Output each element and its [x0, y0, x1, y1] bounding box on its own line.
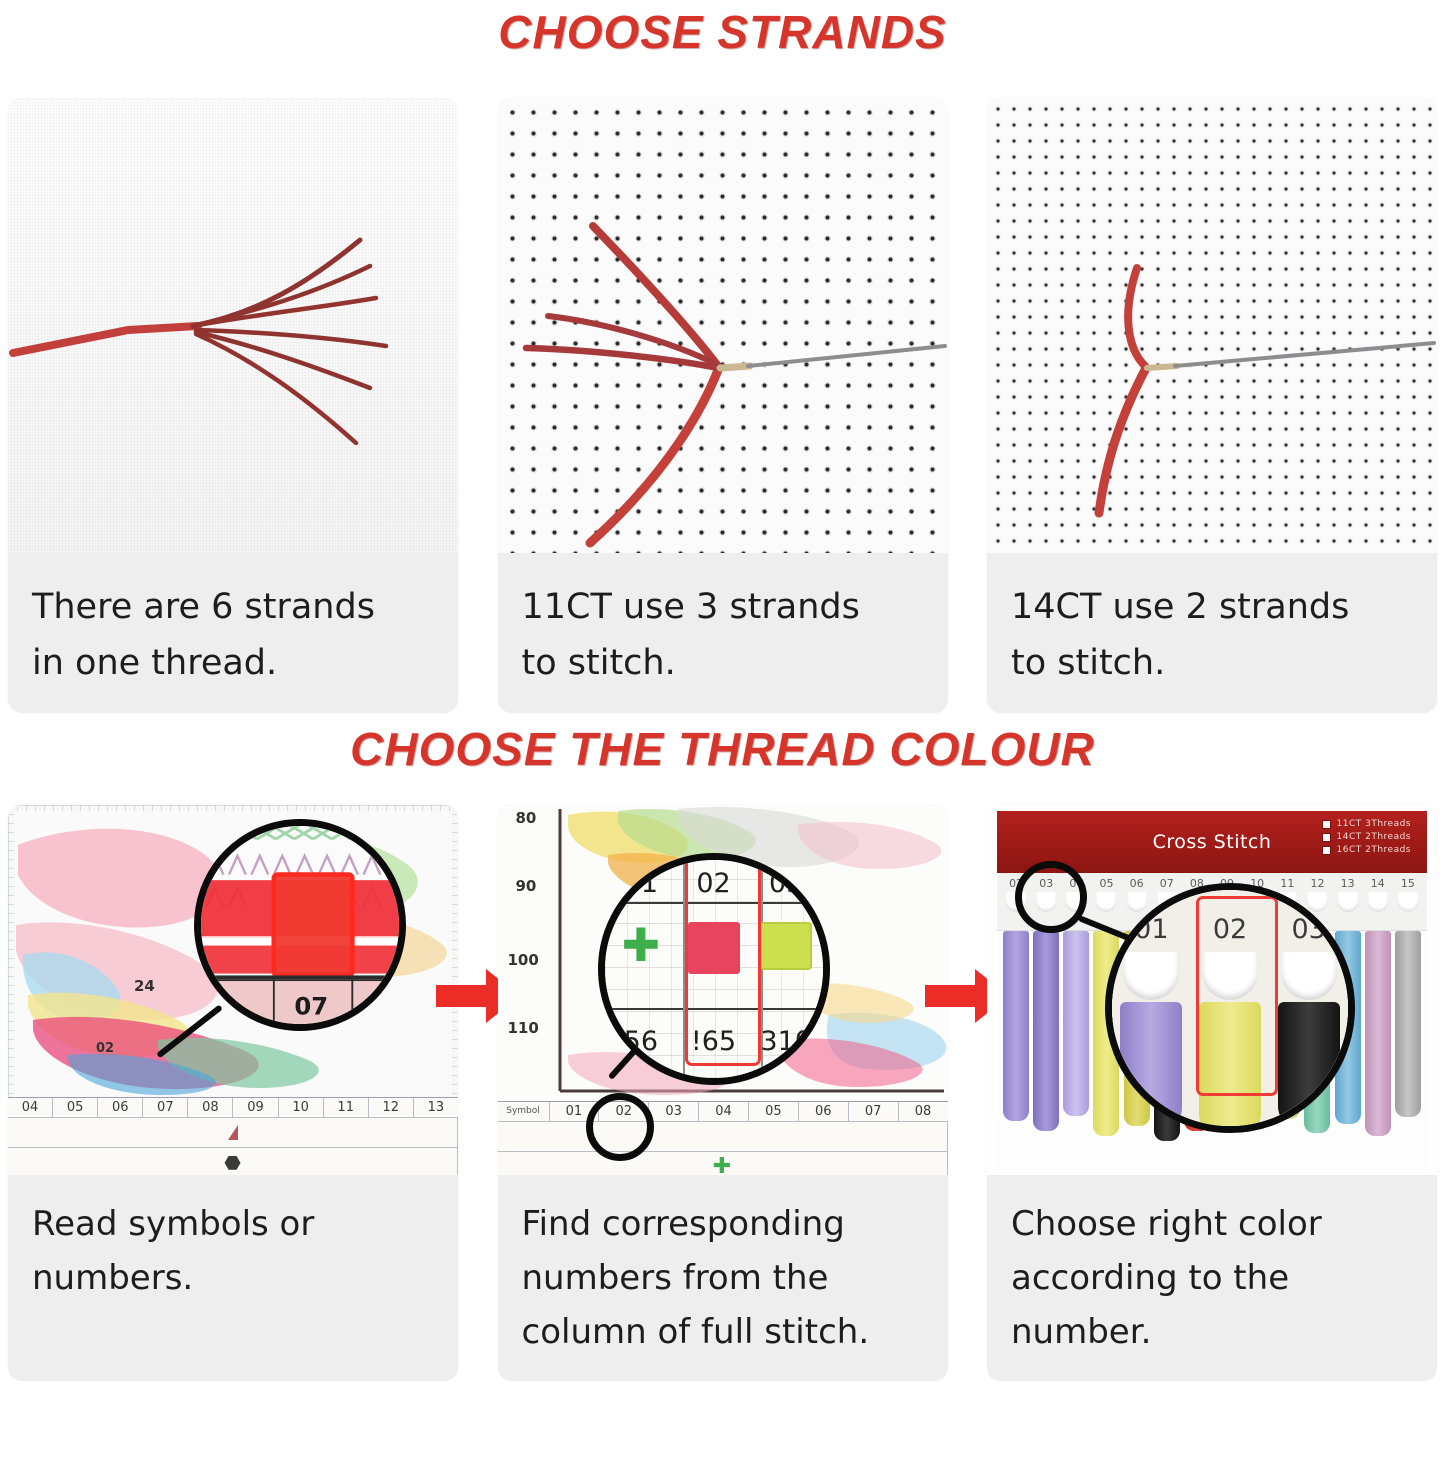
hole-number: 12: [1310, 877, 1324, 890]
caption-line-1: 14CT use 2 strands: [1011, 579, 1413, 635]
axis-tick-90: 90: [516, 877, 537, 895]
magnifier-circle-numbers: 01 02 03 ✚: [598, 853, 830, 1085]
cross-icon: ✚: [713, 1156, 731, 1176]
thread-hole-column: 14: [1363, 873, 1393, 930]
thread-card-title: Cross Stitch: [1153, 831, 1272, 853]
floss-slot: [1001, 931, 1031, 1161]
legend-row-spacer: [498, 1122, 948, 1152]
legend-table-left: 04 05 06 07 08 09 10 11 12 13 ⬣: [8, 1097, 458, 1175]
photo-six-strands: [8, 98, 458, 553]
legend-header-cell: 12: [369, 1098, 414, 1118]
photo-11ct: [498, 98, 948, 553]
checkbox-icon[interactable]: [1322, 820, 1331, 829]
axis-tick-100: 100: [508, 951, 539, 969]
checkbox-icon[interactable]: [1322, 833, 1331, 842]
legend-header-cell: 04: [699, 1102, 749, 1122]
chart-cell-number: 02: [96, 1041, 114, 1056]
magnifier-circle-thread-numbers: 01 02 03: [1105, 883, 1355, 1133]
hole-number: 07: [1160, 877, 1174, 890]
floss-skein: [1278, 1002, 1340, 1130]
card-14ct: 14CT use 2 strands to stitch.: [987, 98, 1437, 713]
magnifier-circle-symbols: 07: [194, 819, 406, 1031]
thread-hole-column: 15: [1393, 873, 1423, 930]
legend-header-cell: 05: [749, 1102, 799, 1122]
floss-slot: [1031, 931, 1061, 1161]
legend-header-cell: 13: [414, 1098, 458, 1118]
magnifier-number: 01: [1112, 914, 1191, 945]
floss-skein: [1365, 931, 1391, 1136]
hole-icon: [1367, 892, 1389, 912]
magnifier-content-thread: 01 02 03: [1112, 890, 1348, 1126]
hole-number: 13: [1341, 877, 1355, 890]
magnifier-code-cell: 56: [605, 1026, 678, 1057]
caption-line-1: Read symbols or: [32, 1197, 434, 1251]
magnifier-content-symbols: 07: [201, 826, 399, 1024]
magnifier-symbol-cell: ✚: [605, 922, 678, 978]
card-read-symbols: 24: [8, 805, 458, 1381]
checkbox-icon[interactable]: [1322, 846, 1331, 855]
legend-header-row: Symbol 01 02 03 04 05 06 07 08: [498, 1102, 948, 1122]
thread-card-options: 11CT 3Threads 14CT 2Threads 16CT 2Thread…: [1322, 819, 1411, 855]
magnifier-highlight-column: [685, 856, 761, 1066]
page-title-choose-strands: CHOOSE STRANDS: [0, 0, 1445, 60]
caption-line-2: to stitch.: [1011, 635, 1413, 691]
legend-header-cell: 05: [53, 1098, 98, 1118]
legend-header-cell: 06: [799, 1102, 849, 1122]
hole-icon: [1397, 892, 1419, 912]
magnifier-header-cell: 01: [605, 868, 678, 899]
floss-slot: [1393, 931, 1423, 1161]
floss-slot: [1363, 931, 1393, 1161]
magnifier-header-cell: 03: [750, 868, 823, 899]
axis-tick-80: 80: [516, 809, 537, 827]
thread-card-option: 16CT 2Threads: [1322, 845, 1411, 855]
legend-symbol-row: ⬣ × ⥚ ✦ Λ: [8, 1118, 458, 1175]
hole-number: 15: [1401, 877, 1415, 890]
magnifier-code-cell: 310: [750, 1026, 823, 1057]
legend-symbol-row: ✚ ⬣: [498, 1122, 948, 1175]
caption-line-2: in one thread.: [32, 635, 434, 691]
legend-header-cell: 07: [849, 1102, 899, 1122]
legend-symbol-cell: [8, 1118, 458, 1148]
legend-header-cell: 07: [143, 1098, 188, 1118]
svg-text:24: 24: [134, 977, 155, 995]
legend-row-label: Symbol: [498, 1102, 550, 1122]
option-label: 14CT 2Threads: [1337, 832, 1411, 842]
legend-header-cell: 03: [649, 1102, 699, 1122]
option-label: 11CT 3Threads: [1337, 819, 1411, 829]
photo-chart-with-axis: 80 90 100 110 01 02 03: [498, 805, 948, 1175]
legend-highlight-circle: [586, 1093, 654, 1161]
cross-icon: ✚: [622, 922, 661, 968]
legend-header-row: 04 05 06 07 08 09 10 11 12 13: [8, 1098, 458, 1118]
caption-line-1: 11CT use 3 strands: [522, 579, 924, 635]
legend-header-cell: 08: [188, 1098, 233, 1118]
square-icon: [760, 922, 812, 970]
card-11ct: 11CT use 3 strands to stitch.: [498, 98, 948, 713]
legend-symbol-cell: ✚: [498, 1152, 948, 1175]
photo-pattern-chart: 24: [8, 805, 458, 1175]
thread-hole-highlight-circle: [1015, 861, 1087, 933]
option-label: 16CT 2Threads: [1337, 845, 1411, 855]
caption-line-3: number.: [1011, 1305, 1413, 1359]
page-title-choose-thread-colour: CHOOSE THE THREAD COLOUR: [0, 713, 1445, 777]
hole-number: 14: [1371, 877, 1385, 890]
card-choose-color: Cross Stitch 11CT 3Threads 14CT 2Threads: [987, 805, 1437, 1381]
hole-number: 11: [1280, 877, 1294, 890]
caption-14ct: 14CT use 2 strands to stitch.: [987, 553, 1437, 713]
legend-header-cell: 04: [8, 1098, 53, 1118]
legend-symbol-cell: ⬣: [8, 1148, 458, 1175]
caption-choose-color: Choose right color according to the numb…: [987, 1175, 1437, 1381]
colour-card-row: 24: [0, 805, 1445, 1381]
caption-line-2: numbers.: [32, 1251, 434, 1305]
card-six-strands: There are 6 strands in one thread.: [8, 98, 458, 713]
caption-find-numbers: Find corresponding numbers from the colu…: [498, 1175, 948, 1381]
card-find-numbers: 80 90 100 110 01 02 03: [498, 805, 948, 1381]
photo-14ct: [987, 98, 1437, 553]
thread-card-option: 11CT 3Threads: [1322, 819, 1411, 829]
floss-skein: [1003, 931, 1029, 1121]
hole-icon: [1281, 952, 1337, 1000]
thread-card-option: 14CT 2Threads: [1322, 832, 1411, 842]
caption-line-1: Find corresponding: [522, 1197, 924, 1251]
thread-six-strands-illustration: [8, 98, 458, 553]
legend-header-cell: 09: [233, 1098, 278, 1118]
caption-read-symbols: Read symbols or numbers.: [8, 1175, 458, 1381]
axis-tick-110: 110: [508, 1019, 539, 1037]
floss-skein: [1033, 931, 1059, 1131]
hexagon-icon: ⬣: [224, 1153, 241, 1173]
magnifier-highlight-number: [1196, 896, 1278, 1096]
magnifier-symbol-cell: [750, 922, 823, 978]
caption-line-3: column of full stitch.: [522, 1305, 924, 1359]
legend-header-cell: 10: [279, 1098, 324, 1118]
magnifier-number: 03: [1269, 914, 1348, 945]
magnifier-content-numbers: 01 02 03 ✚: [605, 860, 823, 1078]
hole-icon: [1123, 952, 1179, 1000]
legend-header-cell: 11: [324, 1098, 369, 1118]
triangle-icon: [228, 1125, 238, 1140]
caption-line-2: numbers from the: [522, 1251, 924, 1305]
floss-skein: [1120, 1002, 1182, 1132]
thread-needle-14ct-illustration: [987, 98, 1437, 553]
floss-skein: [1395, 931, 1421, 1117]
svg-text:07: 07: [294, 992, 328, 1021]
legend-header-cell: 06: [98, 1098, 143, 1118]
caption-line-2: according to the: [1011, 1251, 1413, 1305]
caption-line-2: to stitch.: [522, 635, 924, 691]
legend-table-middle: Symbol 01 02 03 04 05 06 07 08 ✚: [498, 1101, 948, 1175]
hole-number: 06: [1130, 877, 1144, 890]
caption-line-1: Choose right color: [1011, 1197, 1413, 1251]
caption-line-1: There are 6 strands: [32, 579, 434, 635]
floss-slot: [1061, 931, 1091, 1161]
caption-11ct: 11CT use 3 strands to stitch.: [498, 553, 948, 713]
caption-six-strands: There are 6 strands in one thread.: [8, 553, 458, 713]
photo-thread-card: Cross Stitch 11CT 3Threads 14CT 2Threads: [987, 805, 1437, 1175]
hole-number: 05: [1099, 877, 1113, 890]
strands-card-row: There are 6 strands in one thread. 11CT …: [0, 98, 1445, 713]
legend-header-cell: 08: [899, 1102, 948, 1122]
thread-needle-11ct-illustration: [498, 98, 948, 553]
floss-skein: [1063, 931, 1089, 1116]
